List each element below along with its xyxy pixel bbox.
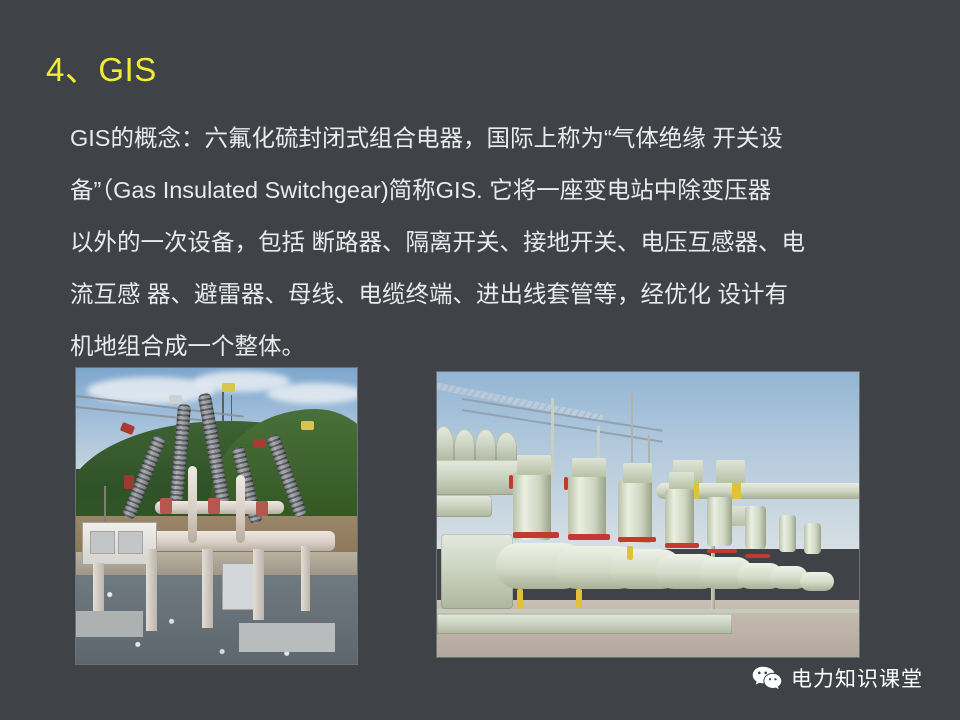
red-marker-band: [707, 549, 737, 553]
support-mast: [551, 398, 554, 484]
yellow-marker-band: [576, 589, 582, 608]
red-marker-band: [513, 532, 559, 538]
page-title: 4、GIS: [46, 52, 157, 88]
circuit-breaker-tank: [800, 572, 834, 592]
operating-mechanism-box: [572, 458, 606, 478]
body-line-3: 以外的一次设备，包括 断路器、隔离开关、接地开关、电压互感器、电: [70, 216, 910, 268]
red-marker-band: [618, 537, 656, 542]
gis-bay-column: [568, 475, 606, 541]
concrete-pad: [239, 623, 335, 653]
enclosure-end: [496, 432, 517, 463]
bushing-cap: [301, 421, 314, 430]
slide-canvas: 4、GIS GIS的概念：六氟化硫封闭式组合电器，国际上称为“气体绝缘 开关设 …: [0, 0, 960, 720]
cloud: [267, 383, 358, 404]
gis-bay-column: [804, 523, 821, 554]
support-leg: [146, 549, 157, 632]
body-line-2: 备”（Gas Insulated Switchgear)简称GIS. 它将一座变…: [70, 164, 910, 216]
gis-bay-column: [665, 489, 695, 546]
operating-mechanism-box: [716, 460, 746, 483]
flange-band: [256, 501, 268, 516]
flange-band: [160, 498, 172, 514]
gis-bay-column: [618, 480, 652, 543]
cabinet-panel: [90, 531, 114, 554]
concrete-plinth: [437, 614, 732, 634]
gis-bay-column: [779, 515, 796, 552]
red-marker-band: [665, 543, 699, 548]
riser-pipe: [236, 475, 245, 543]
flange-band: [208, 498, 220, 514]
yellow-marker-band: [627, 546, 633, 560]
body-paragraph: GIS的概念：六氟化硫封闭式组合电器，国际上称为“气体绝缘 开关设 备”（Gas…: [70, 112, 910, 372]
red-marker-band: [568, 534, 610, 540]
gis-bay-column: [707, 497, 732, 545]
bus-marker-band: [732, 480, 741, 499]
bushing-cap: [169, 395, 182, 404]
enclosure-end: [436, 426, 454, 463]
support-leg: [202, 549, 213, 629]
photo-content: [437, 372, 859, 657]
red-marker-band: [564, 477, 568, 490]
riser-pipe: [188, 466, 197, 543]
operating-mechanism-box: [623, 463, 653, 483]
bushing-cap: [222, 383, 235, 392]
gis-bay-column: [745, 506, 766, 549]
gis-bay-row-photo: [436, 371, 860, 658]
yellow-marker-band: [517, 589, 523, 609]
base-rail: [437, 609, 859, 613]
wechat-icon: [752, 665, 782, 691]
support-leg: [253, 549, 264, 620]
bushing-cap: [253, 439, 266, 448]
photo-content: [76, 368, 357, 664]
enclosure-end: [475, 429, 496, 463]
enclosure-block: [436, 495, 492, 518]
enclosure-end: [454, 429, 475, 463]
body-line-4: 流互感 器、避雷器、母线、电缆终端、进出线套管等，经优化 设计有: [70, 268, 910, 320]
support-leg: [301, 546, 310, 611]
red-marker-band: [509, 475, 513, 489]
watermark-label: 电力知识课堂: [791, 663, 923, 693]
cabinet-panel: [118, 531, 142, 554]
operating-mechanism-box: [517, 455, 551, 475]
red-marker-band: [745, 554, 770, 558]
gis-bay-column: [513, 472, 551, 540]
body-line-5: 机地组合成一个整体。: [70, 320, 910, 372]
local-control-box: [222, 563, 255, 609]
body-line-1: GIS的概念：六氟化硫封闭式组合电器，国际上称为“气体绝缘 开关设: [70, 112, 910, 164]
outdoor-gis-substation-photo: [75, 367, 358, 665]
watermark: 电力知识课堂: [752, 663, 923, 693]
concrete-pad: [76, 611, 143, 638]
operating-mechanism-box: [669, 472, 694, 489]
flange-band: [124, 475, 134, 489]
